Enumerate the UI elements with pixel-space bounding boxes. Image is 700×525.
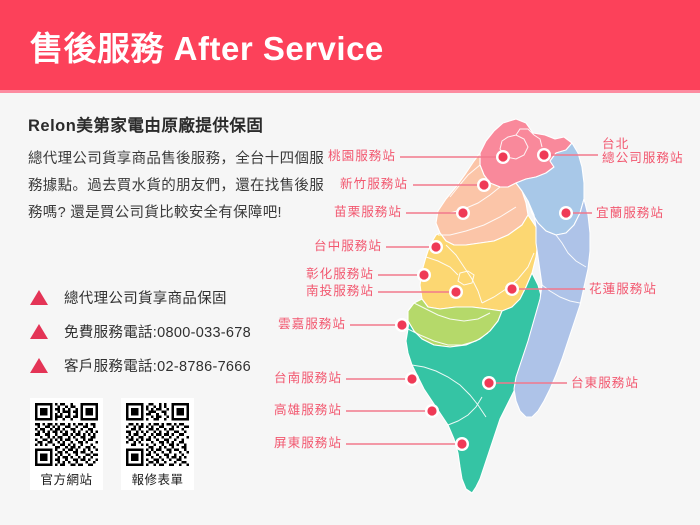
station-marker-hsinchu[interactable] [477, 178, 491, 192]
qr-card-label: 報修表單 [131, 469, 183, 488]
station-label-miaoli[interactable]: 苗栗服務站 [334, 205, 402, 219]
station-marker-taitung[interactable] [482, 376, 496, 390]
station-marker-kaohsiung[interactable] [425, 404, 439, 418]
station-marker-nantou[interactable] [449, 285, 463, 299]
station-marker-miaoli[interactable] [456, 206, 470, 220]
station-marker-pingtung[interactable] [455, 437, 469, 451]
station-marker-yunchia[interactable] [395, 318, 409, 332]
qr-card-website[interactable]: 官方網站 [30, 398, 103, 490]
station-label-tainan[interactable]: 台南服務站 [274, 371, 342, 385]
station-marker-changhua[interactable] [417, 268, 431, 282]
list-item-label: 客戶服務電話:02-8786-7666 [64, 355, 251, 376]
station-label-pingtung[interactable]: 屏東服務站 [274, 436, 342, 450]
qr-card-label: 官方網站 [40, 469, 92, 488]
station-label-taoyuan[interactable]: 桃園服務站 [328, 149, 396, 163]
station-label-yunchia[interactable]: 雲嘉服務站 [278, 317, 346, 331]
station-label-hsinchu[interactable]: 新竹服務站 [340, 177, 408, 191]
header-underline [0, 90, 700, 93]
station-label-taitung[interactable]: 台東服務站 [571, 376, 639, 390]
list-item-label: 免費服務電話:0800-033-678 [64, 321, 251, 342]
triangle-bullet-icon [30, 358, 48, 373]
station-label-changhua[interactable]: 彰化服務站 [306, 267, 374, 281]
station-label-nantou[interactable]: 南投服務站 [306, 284, 374, 298]
station-label-taichung[interactable]: 台中服務站 [314, 239, 382, 253]
qr-code-group: 官方網站 [30, 398, 194, 490]
station-marker-tainan[interactable] [405, 372, 419, 386]
triangle-bullet-icon [30, 290, 48, 305]
station-marker-taichung[interactable] [429, 240, 443, 254]
qr-code-icon [35, 403, 98, 466]
station-marker-taoyuan[interactable] [496, 150, 510, 164]
station-label-hualien[interactable]: 花蓮服務站 [589, 282, 657, 296]
qr-card-repair-form[interactable]: 報修表單 [121, 398, 194, 490]
station-label-kaohsiung[interactable]: 高雄服務站 [274, 403, 342, 417]
list-item-label: 總代理公司貨享商品保固 [64, 287, 227, 308]
page-title: 售後服務 After Service [30, 22, 384, 70]
station-label-taipei-hq[interactable]: 台北 總公司服務站 [602, 137, 684, 165]
station-label-yilan[interactable]: 宜蘭服務站 [596, 206, 664, 220]
station-marker-hualien[interactable] [505, 282, 519, 296]
qr-code-icon [126, 403, 189, 466]
taiwan-service-map: 桃園服務站 新竹服務站 苗栗服務站 台中服務站 彰化服務站 南投服務站 雲嘉服務… [250, 95, 700, 525]
triangle-bullet-icon [30, 324, 48, 339]
station-marker-yilan[interactable] [559, 206, 573, 220]
station-marker-taipei[interactable] [537, 148, 551, 162]
